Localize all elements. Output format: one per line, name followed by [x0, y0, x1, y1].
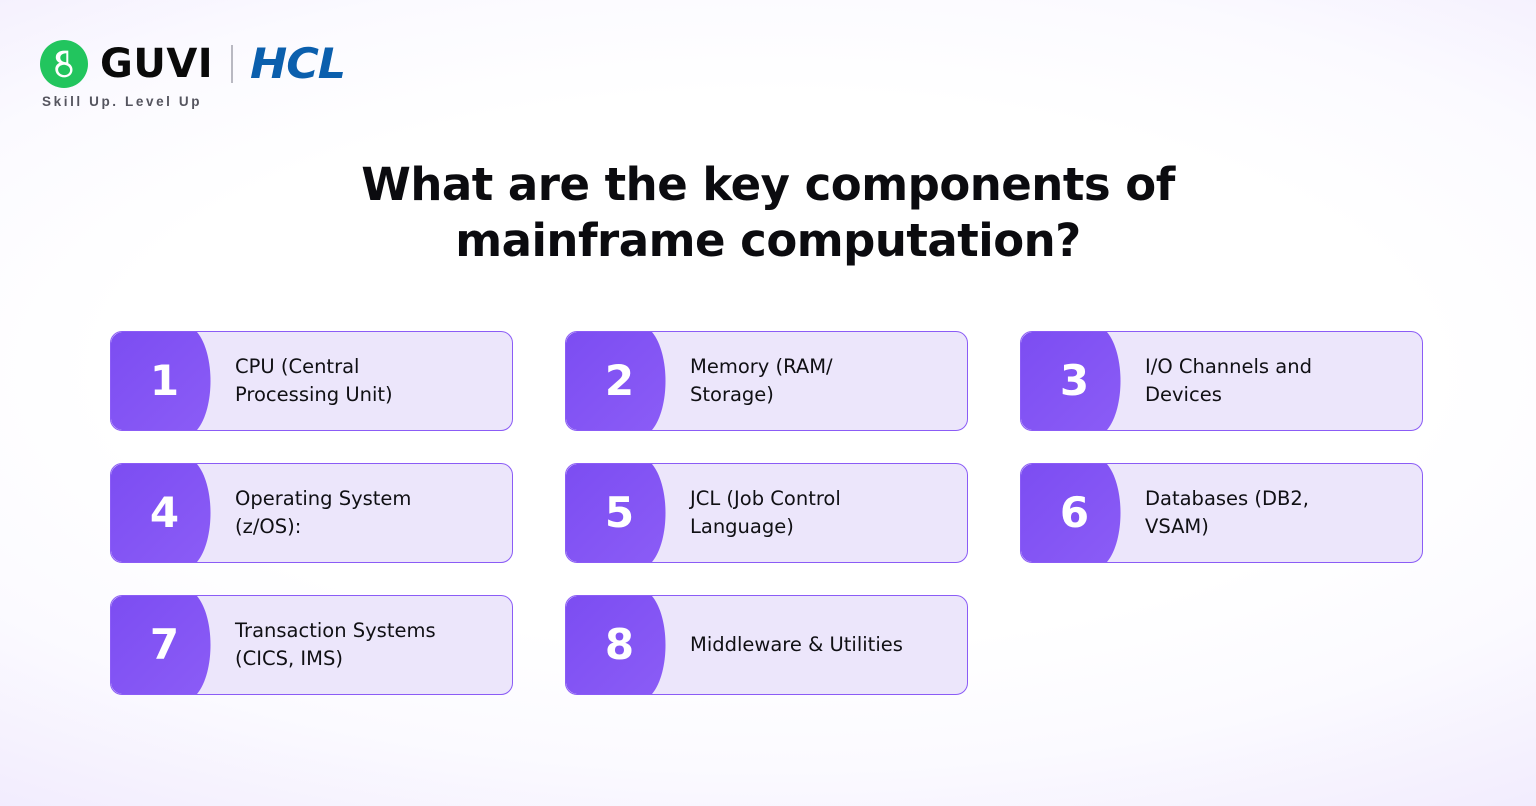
card-label: CPU (Central Processing Unit) [235, 353, 407, 408]
card-label: Memory (RAM/ Storage) [690, 353, 847, 408]
card-number-panel: 8 [566, 596, 681, 694]
card-number-panel: 7 [111, 596, 226, 694]
component-card-5[interactable]: 5 JCL (Job Control Language) [565, 463, 968, 563]
component-card-7[interactable]: 7 Transaction Systems (CICS, IMS) [110, 595, 513, 695]
card-number-panel: 1 [111, 332, 226, 430]
component-card-4[interactable]: 4 Operating System (z/OS): [110, 463, 513, 563]
logo-row: GUVI HCL [40, 40, 340, 88]
card-number: 6 [1060, 492, 1089, 534]
card-number-panel: 5 [566, 464, 681, 562]
card-number-panel: 6 [1021, 464, 1136, 562]
components-grid: 1 CPU (Central Processing Unit) 2 Memory… [110, 331, 1426, 695]
component-card-6[interactable]: 6 Databases (DB2, VSAM) [1020, 463, 1423, 563]
card-label: I/O Channels and Devices [1145, 353, 1326, 408]
logo-divider [231, 45, 233, 83]
component-card-1[interactable]: 1 CPU (Central Processing Unit) [110, 331, 513, 431]
card-label: Middleware & Utilities [690, 632, 917, 657]
card-label: Transaction Systems (CICS, IMS) [235, 617, 450, 672]
card-number: 8 [605, 624, 634, 666]
card-number: 3 [1060, 360, 1089, 402]
card-number-panel: 4 [111, 464, 226, 562]
brand-tagline: Skill Up. Level Up [42, 94, 340, 109]
card-number: 4 [150, 492, 179, 534]
component-card-2[interactable]: 2 Memory (RAM/ Storage) [565, 331, 968, 431]
card-number: 1 [150, 360, 179, 402]
card-number: 7 [150, 624, 179, 666]
card-label: JCL (Job Control Language) [690, 485, 855, 540]
guvi-circle-g-icon [40, 40, 88, 88]
card-number: 5 [605, 492, 634, 534]
card-label: Databases (DB2, VSAM) [1145, 485, 1323, 540]
slide-title: What are the key components of mainframe… [268, 157, 1268, 269]
component-card-3[interactable]: 3 I/O Channels and Devices [1020, 331, 1423, 431]
component-card-8[interactable]: 8 Middleware & Utilities [565, 595, 968, 695]
card-number: 2 [605, 360, 634, 402]
card-number-panel: 3 [1021, 332, 1136, 430]
hcl-wordmark: HCL [250, 43, 345, 85]
card-number-panel: 2 [566, 332, 681, 430]
guvi-wordmark: GUVI [100, 44, 213, 84]
card-label: Operating System (z/OS): [235, 485, 425, 540]
brand-logo-bar: GUVI HCL Skill Up. Level Up [40, 40, 340, 109]
